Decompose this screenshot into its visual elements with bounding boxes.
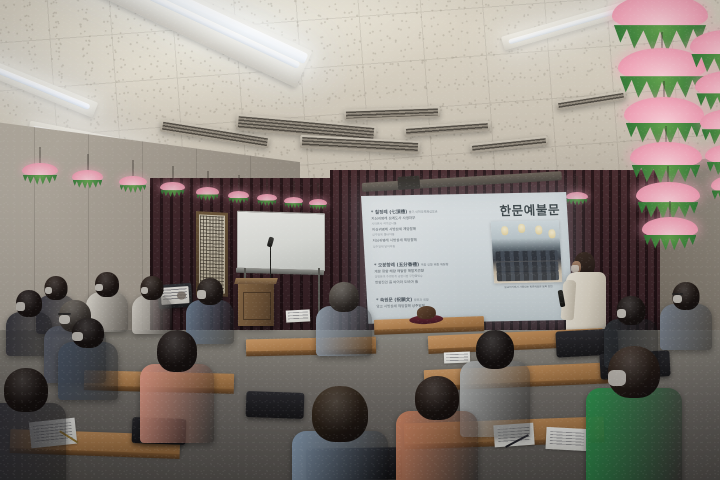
podium-front-panel: [243, 292, 271, 320]
person-torso: [586, 388, 682, 480]
lantern-green-petals: [257, 200, 276, 208]
eyeglasses: [58, 313, 71, 315]
lotus-lantern: [160, 182, 185, 200]
lantern-pink-petals: [566, 192, 588, 200]
face-mask: [617, 309, 627, 318]
audience-member: [0, 368, 66, 480]
screen-roller-box: [397, 176, 420, 190]
person-head: [415, 376, 459, 420]
audience-member: [140, 330, 214, 440]
eyeglasses: [672, 293, 683, 295]
brown-hat: [409, 305, 444, 325]
lantern-cord: [667, 166, 668, 184]
audience-member: [292, 386, 388, 480]
person-torso: [316, 306, 372, 356]
lotus-lantern: [72, 170, 103, 192]
person-head: [312, 386, 368, 442]
lantern-pink-petals: [690, 30, 720, 58]
person-torso: [396, 411, 478, 480]
slide-title: 한문예불문: [499, 199, 561, 219]
wooden-podium: [238, 282, 274, 326]
lantern-pink-petals: [624, 97, 704, 127]
lantern-green-petals: [284, 203, 302, 211]
lotus-lantern: [228, 191, 249, 206]
lantern-pink-petals: [22, 163, 58, 176]
lotus-lantern: [196, 187, 219, 204]
person-torso: [132, 295, 172, 334]
lantern-pink-petals: [119, 176, 147, 186]
person-head: [157, 330, 197, 372]
projection-screen: 한문예불문 불교의식에서 사용되는 한문예불문 봉독 장면 * 칠정례 (七頂禮…: [361, 192, 573, 324]
audience-member: [316, 282, 372, 354]
lantern-pink-petals: [700, 109, 720, 132]
lantern-green-petals: [73, 180, 103, 192]
lantern-green-petals: [161, 190, 185, 200]
lantern-green-petals: [23, 175, 58, 189]
whiteboard: [237, 211, 325, 271]
lotus-lantern: [119, 176, 147, 196]
lantern-green-petals: [228, 198, 248, 206]
face-mask: [72, 332, 83, 341]
face-mask: [141, 287, 149, 294]
paper-sheet: [545, 427, 588, 451]
lantern-pink-petals: [695, 71, 720, 96]
lantern-pink-petals: [72, 170, 103, 182]
lotus-lantern: [309, 199, 327, 212]
lantern-cord: [665, 126, 666, 144]
face-mask: [197, 290, 206, 298]
person-head: [329, 282, 359, 312]
lantern-pink-petals: [636, 182, 699, 206]
lantern-pink-petals: [630, 142, 702, 169]
audience-member: [132, 276, 172, 332]
face-mask: [571, 265, 579, 272]
face-mask: [673, 295, 682, 303]
lotus-lantern: [22, 163, 58, 189]
lantern-pink-petals: [257, 194, 277, 201]
person-head: [476, 330, 514, 369]
lotus-lantern: [711, 175, 720, 210]
face-mask: [608, 370, 626, 386]
audience-member: [396, 376, 478, 480]
lantern-pink-petals: [705, 144, 720, 165]
lantern-green-petals: [309, 205, 326, 212]
lantern-green-petals: [566, 199, 587, 208]
person-torso: [0, 403, 66, 480]
person-torso: [58, 342, 118, 400]
lotus-lantern: [642, 217, 697, 257]
podium-top: [234, 278, 278, 284]
lantern-pink-petals: [228, 191, 249, 199]
lotus-lantern: [257, 194, 277, 208]
person-head: [4, 368, 48, 412]
lantern-green-petals: [196, 194, 218, 203]
face-mask: [95, 284, 103, 292]
lantern-pink-petals: [642, 217, 697, 238]
lotus-lantern: [566, 192, 588, 208]
lantern-pink-petals: [711, 175, 720, 193]
lantern-green-petals: [120, 185, 147, 196]
lantern-pink-petals: [196, 187, 219, 196]
person-torso: [140, 364, 214, 444]
lantern-pink-petals: [309, 199, 327, 206]
audience-member: [586, 346, 682, 480]
person-torso: [660, 304, 712, 350]
lantern-pink-petals: [284, 197, 303, 204]
lotus-lantern: [284, 197, 303, 211]
audience-member: [660, 282, 712, 348]
lantern-green-petals: [643, 235, 696, 257]
lantern-pink-petals: [160, 182, 185, 191]
face-mask: [16, 302, 25, 310]
lecture-hall-photograph: 한문예불문 불교의식에서 사용되는 한문예불문 봉독 장면 * 칠정례 (七頂禮…: [0, 0, 720, 480]
audience-member: [58, 318, 118, 398]
paper-sheet: [286, 309, 311, 322]
lantern-green-petals: [712, 190, 720, 209]
